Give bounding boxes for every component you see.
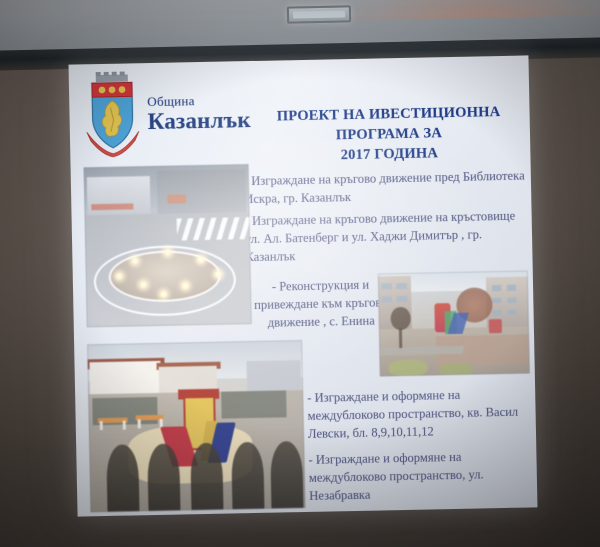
photo-playground-blocks	[378, 270, 530, 376]
municipality-heading: Община Казанлък	[147, 93, 251, 133]
municipality-label: Община	[147, 93, 250, 108]
bullet-reconstruction-enina: - Реконструкция и привеждане към кръгово…	[253, 276, 389, 332]
bullet-vasil-levski: - Изграждане и оформяне на междублоково …	[307, 385, 530, 443]
bullet-nezabravka: - Изграждане и оформяне на междублоково …	[308, 447, 531, 505]
slide-header: Община Казанлък ПРОЕКТ НА ИВЕСТИЦИОННА П…	[79, 62, 521, 157]
bullet-roundabout-batenberg: - Изграждане на кръгово движение на кръс…	[245, 207, 531, 266]
bullet-roundabout-library: - Изграждане на кръгово движение пред Би…	[244, 167, 530, 208]
kazanlak-coat-of-arms-icon	[84, 71, 142, 158]
room-wall: Община Казанлък ПРОЕКТ НА ИВЕСТИЦИОННА П…	[0, 0, 600, 547]
slide-title-line-3: 2017 ГОДИНА	[258, 142, 520, 167]
municipality-name: Казанлък	[147, 108, 250, 133]
photo-playground-houses	[87, 340, 305, 512]
ceiling-light-fixture	[287, 5, 351, 23]
photo-roundabout-render	[84, 164, 252, 327]
slide-title: ПРОЕКТ НА ИВЕСТИЦИОННА ПРОГРАМА ЗА 2017 …	[257, 102, 520, 167]
projected-slide: Община Казанлък ПРОЕКТ НА ИВЕСТИЦИОННА П…	[69, 55, 538, 516]
